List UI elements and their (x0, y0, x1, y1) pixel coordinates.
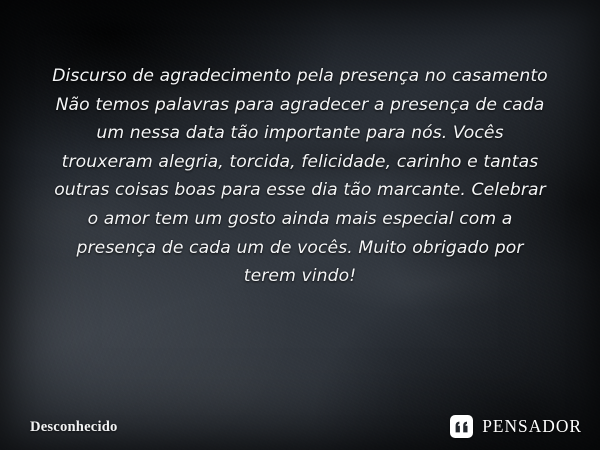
quote-author: Desconhecido (30, 419, 118, 436)
quote-card: Discurso de agradecimento pela presença … (0, 0, 600, 450)
quote-text: Discurso de agradecimento pela presença … (50, 62, 550, 291)
card-footer: Desconhecido PENSADOR (0, 394, 600, 450)
pensador-logo[interactable]: PENSADOR (450, 415, 582, 438)
brand-wordmark: PENSADOR (482, 416, 582, 437)
quote-mark-icon (450, 415, 473, 438)
quote-body: Discurso de agradecimento pela presença … (50, 62, 550, 291)
